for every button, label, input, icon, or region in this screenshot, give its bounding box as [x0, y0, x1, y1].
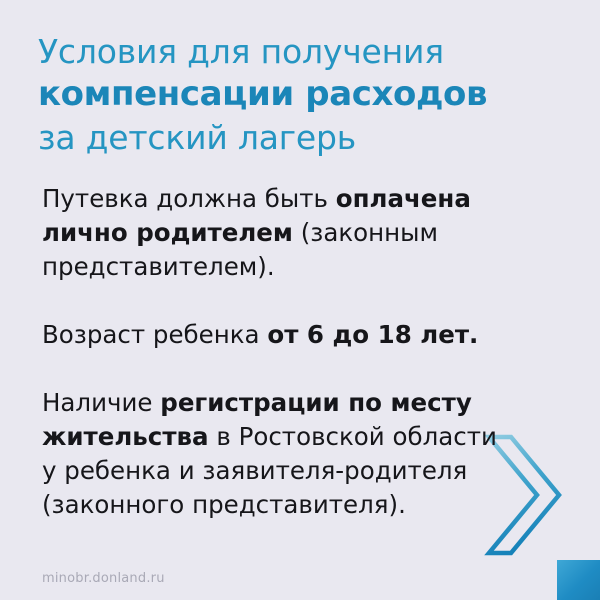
condition-payment: Путевка должна быть оплачена лично родит… — [42, 182, 512, 284]
plain-text: Путевка должна быть — [42, 184, 336, 213]
condition-registration: Наличие регистрации по месту жительства … — [42, 386, 512, 522]
plain-text: Возраст ребенка — [42, 320, 267, 349]
conditions-list: Путевка должна быть оплачена лично родит… — [42, 182, 512, 522]
title-line-1: Условия для получения — [38, 30, 578, 73]
page-title: Условия для получения компенсации расход… — [38, 30, 578, 159]
infographic-poster: Условия для получения компенсации расход… — [0, 0, 600, 600]
corner-accent-square — [557, 560, 600, 600]
title-line-2: компенсации расходов — [38, 73, 578, 116]
condition-age: Возраст ребенка от 6 до 18 лет. — [42, 318, 512, 352]
plain-text: Наличие — [42, 388, 160, 417]
emphasis-text: от 6 до 18 лет. — [267, 320, 478, 349]
footer-site-url: minobr.donland.ru — [42, 571, 165, 586]
title-line-3: за детский лагерь — [38, 116, 578, 159]
